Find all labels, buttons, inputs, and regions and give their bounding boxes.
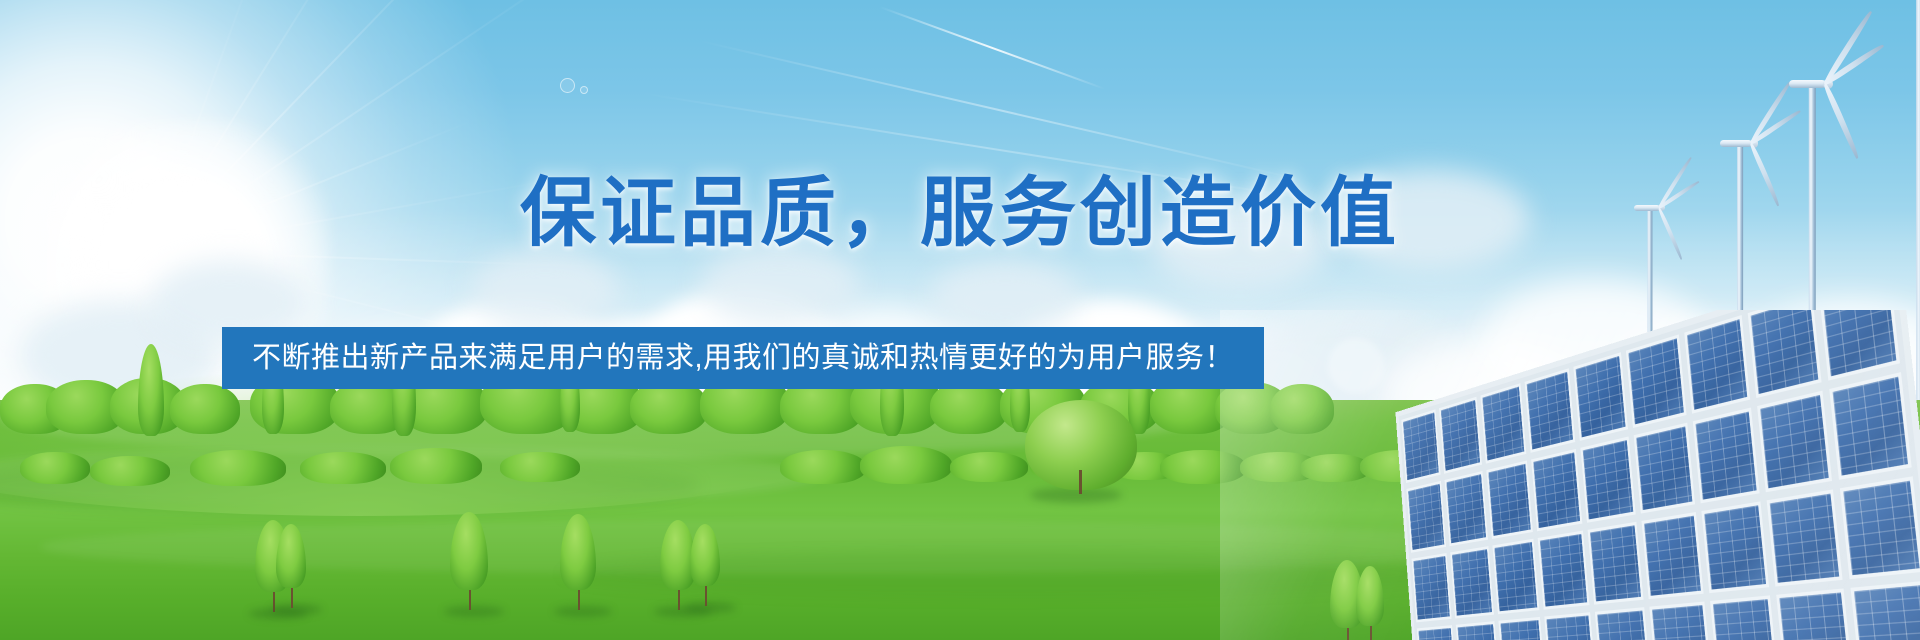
solar-panel-cell — [1587, 521, 1643, 605]
solar-panel-cell — [1626, 334, 1686, 427]
sapling-shadow — [684, 602, 736, 613]
solar-panel-cell — [1573, 352, 1628, 441]
solar-panel-array — [1220, 310, 1920, 640]
solar-panel-cell — [1839, 476, 1920, 580]
cloud-puff — [930, 260, 1080, 335]
solar-panel-cell — [1412, 553, 1452, 623]
solar-panel-cell — [1492, 538, 1539, 614]
mid-ground-shrub — [780, 450, 866, 484]
solar-panel-cell — [1445, 471, 1488, 546]
solar-panel-cell — [1634, 422, 1695, 513]
mid-ground-shrub — [300, 452, 386, 484]
mid-ground-shrub — [190, 450, 286, 486]
solar-panel-cell — [1710, 596, 1779, 640]
solar-panel-cell — [1701, 501, 1769, 594]
mid-ground-shrub — [20, 452, 90, 484]
solar-panel-cell — [1748, 310, 1821, 398]
turbine-nacelle — [1720, 140, 1752, 147]
hero-banner: 保证品质，服务创造价值 不断推出新产品来满足用户的需求,用我们的真诚和热情更好的… — [0, 0, 1920, 640]
solar-panel-cell — [1650, 602, 1713, 640]
solar-panel-cell — [1480, 383, 1526, 463]
solar-panel-cell — [1498, 617, 1546, 640]
solar-panel-cell — [1767, 489, 1842, 587]
solar-panel-cell — [1684, 315, 1750, 413]
solar-panel-cell — [1829, 372, 1912, 479]
solar-panel-cell — [1525, 368, 1575, 452]
turbine-blade — [1822, 83, 1861, 160]
solar-flare-icon — [1328, 338, 1384, 394]
page-title: 保证品质，服务创造价值 — [0, 176, 1920, 252]
lens-flare-icon — [560, 78, 575, 93]
mid-ground-shrub — [950, 452, 1028, 482]
sapling-shadow — [444, 606, 504, 617]
solar-panel-cell — [1538, 530, 1589, 610]
cloud-puff — [700, 245, 860, 325]
solar-panel-cell — [1544, 612, 1596, 640]
solar-panel-cell — [1417, 625, 1458, 640]
cypress-tree — [138, 344, 164, 436]
solar-panel-cell — [1439, 397, 1482, 474]
solar-panel-cell — [1531, 449, 1582, 531]
subtitle-text: 不断推出新产品来满足用户的需求,用我们的真诚和热情更好的为用户服务！ — [252, 344, 1234, 373]
solar-panel-cell — [1450, 546, 1494, 619]
mid-ground-shrub — [860, 446, 952, 484]
solar-panel-cell — [1776, 589, 1853, 640]
sapling-shadow — [554, 606, 612, 617]
solar-panel-cell — [1486, 460, 1533, 538]
mid-ground-shrub — [390, 448, 482, 484]
solar-panel-cell — [1595, 607, 1652, 640]
tree-trunk — [1079, 470, 1082, 494]
tree-line-bush — [170, 384, 240, 434]
solar-panel-cell — [1850, 581, 1920, 640]
solar-panel-cell — [1692, 407, 1759, 503]
turbine-nacelle — [1789, 80, 1827, 88]
solar-panel-cell — [1406, 481, 1446, 553]
solar-panel-cell — [1642, 511, 1704, 599]
solar-panel-cell — [1818, 310, 1900, 380]
subtitle-bar: 不断推出新产品来满足用户的需求,用我们的真诚和热情更好的为用户服务！ — [222, 327, 1264, 389]
mid-ground-shrub — [500, 452, 580, 482]
solar-panel-cell — [1757, 390, 1831, 491]
mid-ground-shrub — [90, 456, 170, 486]
sapling-shadow — [270, 604, 322, 615]
solar-panel-cell — [1580, 436, 1636, 522]
lens-flare-icon — [580, 86, 588, 94]
solar-panel-cell — [1456, 621, 1500, 640]
cloud-puff — [470, 250, 620, 330]
solar-panel-cell — [1401, 409, 1440, 483]
